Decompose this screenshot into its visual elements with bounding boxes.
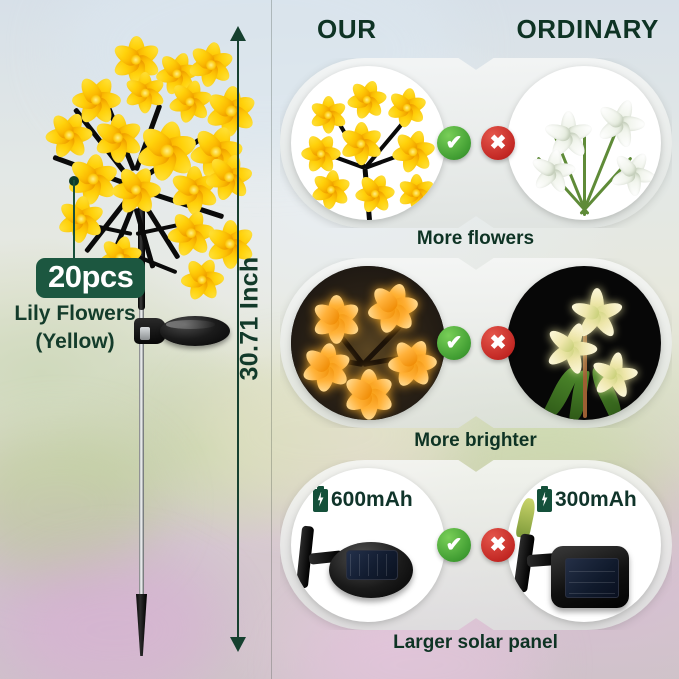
product-name-label: Lily Flowers (Yellow) xyxy=(0,300,150,355)
lily-bloom xyxy=(343,126,379,162)
comparison-column: OUR ORDINARY xyxy=(272,0,679,679)
ordinary-product-image-solar: 300mAh xyxy=(507,468,661,622)
yellow-lily-bouquet-art xyxy=(291,66,445,220)
height-dimension: 30.71 Inch xyxy=(226,26,272,652)
solar-cell xyxy=(346,550,398,580)
lily-bloom xyxy=(50,116,88,154)
lily-bloom xyxy=(401,178,431,208)
header-our: OUR xyxy=(317,14,377,45)
solar-cell xyxy=(565,558,619,598)
infographic-canvas: 20pcs Lily Flowers (Yellow) 30.71 Inch O… xyxy=(0,0,679,679)
verdict-marks: ✔ ✖ xyxy=(437,326,515,360)
product-name-line1: Lily Flowers xyxy=(0,300,150,328)
lily-bloom xyxy=(391,92,423,124)
verdict-marks: ✔ ✖ xyxy=(437,528,515,562)
lily-bloom xyxy=(315,174,347,206)
our-product-image-solar: 600mAh xyxy=(291,468,445,622)
comparison-row-flowers: ✔ ✖ xyxy=(280,58,672,228)
comparison-row-solar-panel: 600mAh ✔ ✖ 300mAh xyxy=(280,460,672,630)
lily-bloom xyxy=(359,178,391,210)
glowing-bloom xyxy=(373,288,413,328)
our-product-image-flowers xyxy=(291,66,445,220)
round-solar-panel xyxy=(329,542,413,598)
dim-bloom xyxy=(599,360,629,390)
check-icon: ✔ xyxy=(437,126,471,160)
stem xyxy=(581,130,617,215)
stake-tip xyxy=(136,594,147,656)
green-bud xyxy=(515,497,537,539)
battery-icon xyxy=(313,489,328,512)
lily-bloom xyxy=(351,84,383,116)
lily-bloom xyxy=(313,100,343,130)
glowing-bloom xyxy=(349,374,389,414)
verdict-marks: ✔ ✖ xyxy=(437,126,515,160)
our-capacity-badge: 600mAh xyxy=(313,488,413,512)
our-product-image-lit xyxy=(291,266,445,420)
lily-bloom xyxy=(172,214,210,252)
lily-bloom xyxy=(184,262,220,298)
cross-icon: ✖ xyxy=(481,528,515,562)
ordinary-product-image-flowers xyxy=(507,66,661,220)
row-caption-solar-panel: Larger solar panel xyxy=(272,632,679,654)
row-caption-flowers: More flowers xyxy=(272,228,679,250)
lily-bloom xyxy=(172,84,208,120)
our-capacity-value: 600mAh xyxy=(331,488,413,512)
lily-bloom xyxy=(62,200,100,238)
white-lily-art xyxy=(507,66,661,220)
glowing-bloom xyxy=(307,348,345,386)
lily-bloom xyxy=(192,46,230,84)
pcs-count-badge: 20pcs xyxy=(36,258,145,298)
ordinary-product-image-lit xyxy=(507,266,661,420)
product-name-line2: (Yellow) xyxy=(0,328,150,356)
glowing-bloom xyxy=(393,344,431,382)
check-icon: ✔ xyxy=(437,528,471,562)
ordinary-capacity-badge: 300mAh xyxy=(537,488,637,512)
cross-icon: ✖ xyxy=(481,126,515,160)
lily-bloom xyxy=(305,138,337,170)
comparison-row-brightness: ✔ ✖ xyxy=(280,258,672,428)
white-lily-bloom xyxy=(537,156,569,188)
lily-bloom xyxy=(116,170,156,210)
battery-icon xyxy=(537,489,552,512)
dim-bloom xyxy=(581,298,613,330)
lily-bloom xyxy=(128,76,162,110)
product-hero: 20pcs Lily Flowers (Yellow) 30.71 Inch xyxy=(0,0,272,679)
glowing-bloom xyxy=(317,300,355,338)
lily-bloom xyxy=(116,40,156,80)
header-ordinary: ORDINARY xyxy=(516,14,659,45)
white-lily-bloom xyxy=(603,106,637,140)
check-icon: ✔ xyxy=(437,326,471,360)
lily-bloom xyxy=(98,118,138,158)
cross-icon: ✖ xyxy=(481,326,515,360)
callout-leader-line xyxy=(73,180,75,262)
dimension-value-label: 30.71 Inch xyxy=(236,239,265,399)
glowing-orange-lilies-art xyxy=(291,266,445,420)
row-caption-brightness: More brighter xyxy=(272,430,679,452)
lily-bloom xyxy=(76,80,116,120)
lily-bloom xyxy=(142,126,192,176)
ordinary-capacity-value: 300mAh xyxy=(555,488,637,512)
white-lily-bloom xyxy=(617,158,649,190)
rect-solar-panel xyxy=(551,546,629,608)
dimension-arrow-down-icon xyxy=(230,637,246,652)
dim-white-lilies-art xyxy=(507,266,661,420)
dim-bloom xyxy=(555,332,587,364)
solar-panel-oval xyxy=(160,316,230,346)
white-lily-bloom xyxy=(551,118,585,152)
comparison-headers: OUR ORDINARY xyxy=(272,14,679,52)
lily-bloom xyxy=(395,134,431,170)
